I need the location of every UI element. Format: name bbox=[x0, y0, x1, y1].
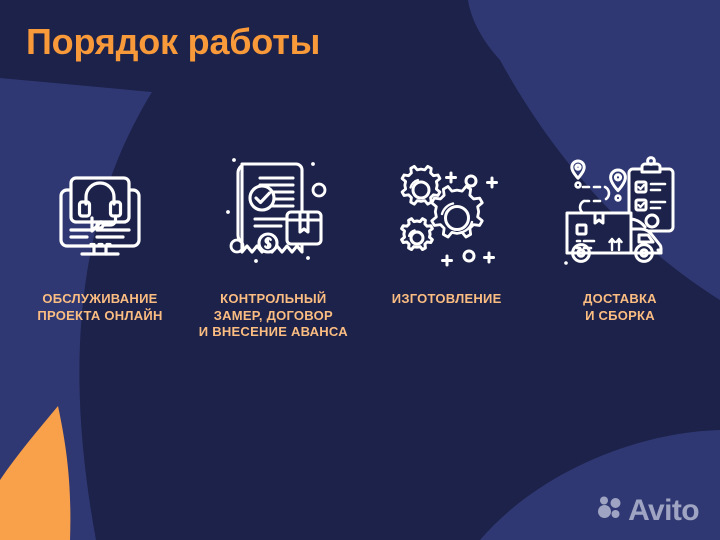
step-label-4: Доставка и сборка bbox=[583, 291, 657, 324]
delivery-truck-icon bbox=[559, 150, 681, 270]
gears-icon bbox=[389, 150, 505, 270]
step-label-3: Изготовление bbox=[392, 291, 502, 308]
step-label-1: Обслуживание проекта онлайн bbox=[37, 291, 162, 324]
avito-dots-logo-icon bbox=[597, 495, 623, 526]
step-item-3: Изготовление bbox=[361, 150, 533, 308]
monitor-headset-icon bbox=[44, 150, 156, 270]
steps-row: Обслуживание проекта онлайн bbox=[0, 150, 720, 341]
step-label-2: Контрольный замер, договор и внесение ав… bbox=[199, 291, 348, 341]
avito-wordmark: Avito bbox=[628, 496, 699, 526]
step-item-2: Контрольный замер, договор и внесение ав… bbox=[187, 150, 359, 341]
contract-receipt-icon bbox=[215, 150, 331, 270]
slide-canvas: Порядок работы bbox=[0, 0, 720, 540]
step-item-1: Обслуживание проекта онлайн bbox=[14, 150, 186, 324]
avito-watermark: Avito bbox=[597, 495, 699, 526]
step-item-4: Доставка и сборка bbox=[534, 150, 706, 324]
page-title: Порядок работы bbox=[26, 21, 320, 63]
